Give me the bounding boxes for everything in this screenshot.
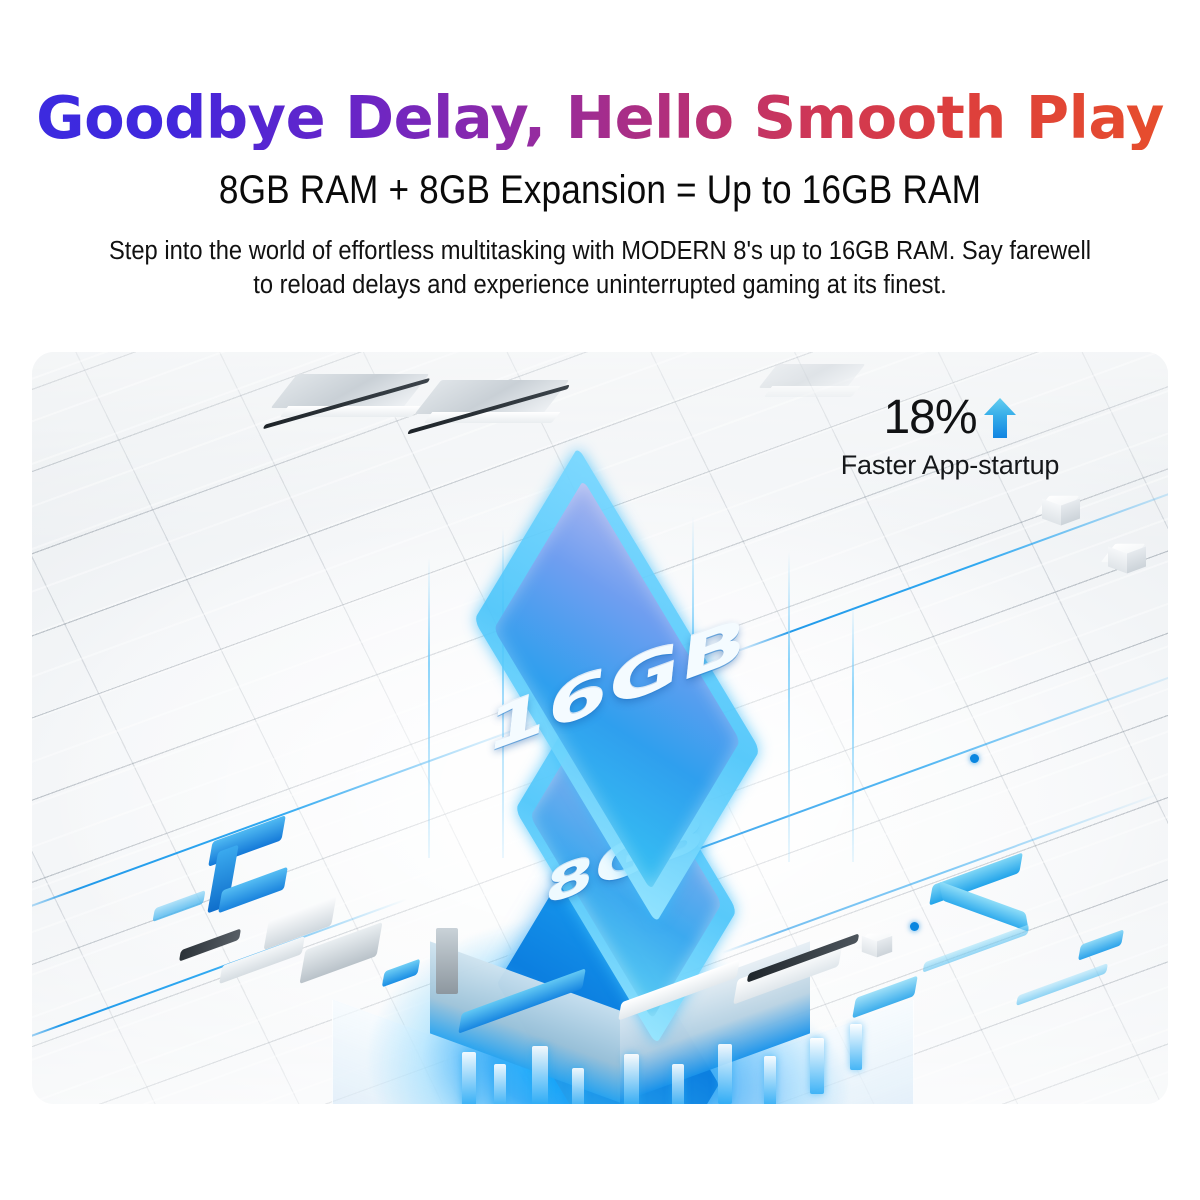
floating-slab <box>768 364 856 388</box>
floating-slab <box>284 374 416 408</box>
description-paragraph: Step into the world of effortless multit… <box>107 213 1093 303</box>
silver-post <box>436 928 458 994</box>
floating-slab <box>428 380 556 414</box>
stat-value-row: 18% <box>800 394 1100 442</box>
stat-callout: 18% Faster App-startup <box>800 394 1100 481</box>
hero-image-panel: 8GB 16GB <box>32 352 1168 1104</box>
floating-cube <box>1108 538 1146 568</box>
stat-value: 18% <box>883 394 976 442</box>
floating-cube <box>1042 490 1080 520</box>
arrow-up-icon <box>983 397 1017 439</box>
feature-banner: Goodbye Delay, Hello Smooth Play 8GB RAM… <box>0 0 1200 1200</box>
floating-cube <box>862 929 892 953</box>
subtitle: 8GB RAM + 8GB Expansion = Up to 16GB RAM <box>72 150 1128 213</box>
circuit-node <box>910 922 919 931</box>
page-title: Goodbye Delay, Hello Smooth Play <box>0 0 1200 150</box>
header-text-block: Goodbye Delay, Hello Smooth Play 8GB RAM… <box>0 0 1200 303</box>
circuit-node <box>970 754 979 763</box>
stat-caption: Faster App-startup <box>800 450 1100 481</box>
